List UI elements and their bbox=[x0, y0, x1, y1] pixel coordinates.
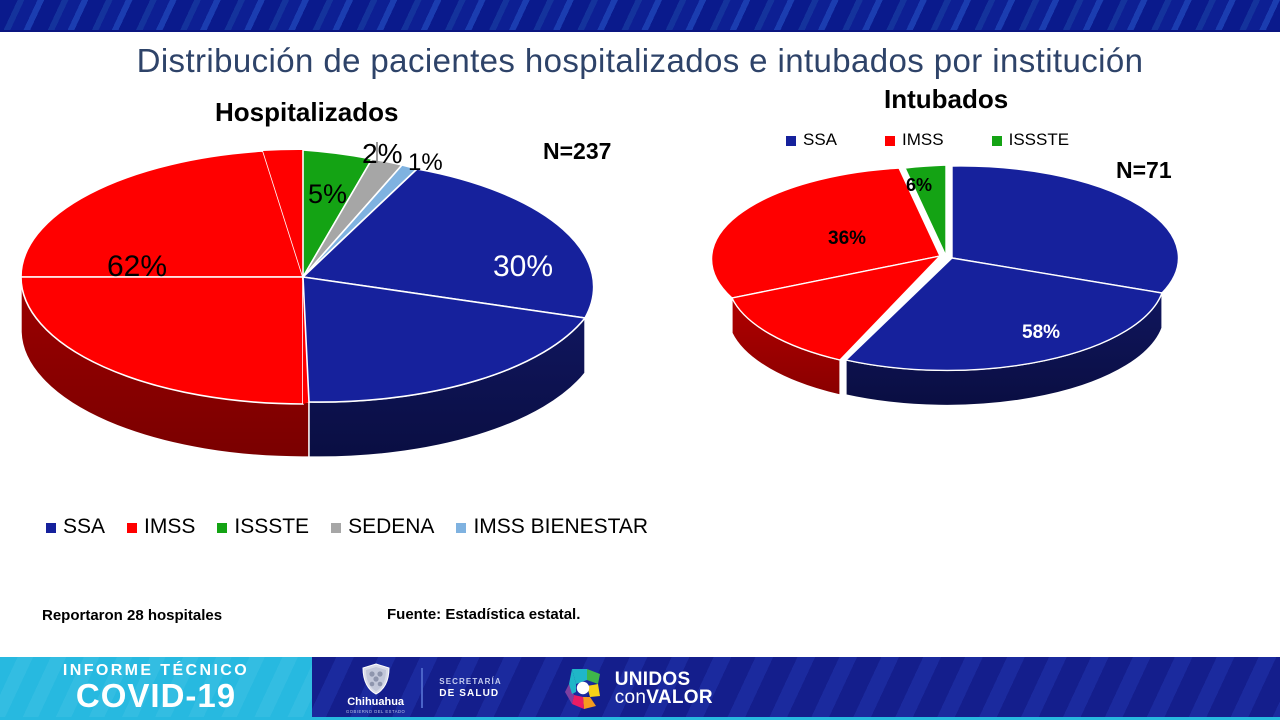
chihuahua-map-icon bbox=[560, 666, 606, 712]
footnote-source: Fuente: Estadística estatal. bbox=[387, 606, 580, 623]
legend-label-issste: ISSSTE bbox=[234, 515, 309, 539]
legend-label-ssa: SSA bbox=[63, 515, 105, 539]
legend-swatch-icon-sedena bbox=[331, 523, 341, 533]
logo-divider bbox=[421, 668, 423, 708]
legend-label-imss-bienestar: IMSS BIENESTAR bbox=[473, 515, 648, 539]
unidos-valor-text: VALOR bbox=[646, 687, 713, 708]
chart-heading-hospitalizados: Hospitalizados bbox=[215, 97, 398, 128]
gov-name-label: Chihuahua bbox=[347, 697, 404, 708]
pie-label-ssa-intubados: 58% bbox=[1022, 322, 1060, 344]
legend-swatch-icon-issste-intubados bbox=[992, 136, 1002, 146]
unidos-line2: conVALOR bbox=[615, 689, 713, 706]
legend-label-imss-intubados: IMSS bbox=[902, 130, 944, 150]
pie-label-issste-hospitalizados: 5% bbox=[308, 179, 347, 210]
pie-chart-intubados bbox=[722, 160, 1192, 420]
pie-label-imss-bienestar-hospitalizados: 1% bbox=[408, 149, 443, 177]
legend-item-ssa-intubados[interactable]: SSA bbox=[786, 130, 837, 150]
legend-item-imss[interactable]: IMSS bbox=[127, 515, 195, 539]
legend-item-issste[interactable]: ISSSTE bbox=[217, 515, 309, 539]
legend-item-ssa[interactable]: SSA bbox=[46, 515, 105, 539]
legend-swatch-icon-imss-intubados bbox=[885, 136, 895, 146]
secretaria-block: SECRETARÍA DE SALUD bbox=[439, 676, 501, 701]
legend-item-sedena[interactable]: SEDENA bbox=[331, 515, 434, 539]
unidos-con-text: con bbox=[615, 687, 647, 708]
pie-label-sedena-hospitalizados: 2% bbox=[362, 138, 402, 170]
chihuahua-shield-block: Chihuahua GOBIERNO DEL ESTADO bbox=[346, 663, 405, 714]
secretaria-line2: DE SALUD bbox=[439, 687, 501, 701]
legend-label-issste-intubados: ISSSTE bbox=[1009, 130, 1069, 150]
gov-sub-label: GOBIERNO DEL ESTADO bbox=[346, 710, 405, 714]
pie-label-imss-hospitalizados: 62% bbox=[107, 250, 167, 284]
unidos-text-block: UNIDOS conVALOR bbox=[615, 671, 713, 706]
legend-label-sedena: SEDENA bbox=[348, 515, 434, 539]
chart-heading-intubados: Intubados bbox=[884, 84, 1008, 115]
pie-label-issste-intubados: 6% bbox=[906, 175, 932, 196]
footnote-hospitals: Reportaron 28 hospitales bbox=[42, 607, 222, 624]
legend-swatch-icon-imss bbox=[127, 523, 137, 533]
legend-swatch-icon-ssa-intubados bbox=[786, 136, 796, 146]
page-title: Distribución de pacientes hospitalizados… bbox=[0, 42, 1280, 80]
banner-covid-block: INFORME TÉCNICO COVID-19 bbox=[0, 657, 312, 720]
pie-label-imss-intubados: 36% bbox=[828, 228, 866, 250]
legend-label-ssa-intubados: SSA bbox=[803, 130, 837, 150]
top-striped-bar bbox=[0, 0, 1280, 32]
pie-label-ssa-hospitalizados: 30% bbox=[493, 250, 553, 284]
legend-intubados: SSA IMSS ISSSTE bbox=[786, 130, 1117, 150]
secretaria-line1: SECRETARÍA bbox=[439, 676, 501, 687]
legend-item-issste-intubados[interactable]: ISSSTE bbox=[992, 130, 1069, 150]
legend-label-imss: IMSS bbox=[144, 515, 195, 539]
legend-swatch-icon-ssa bbox=[46, 523, 56, 533]
legend-swatch-icon-issste bbox=[217, 523, 227, 533]
legend-hospitalizados: SSA IMSS ISSSTE SEDENA IMSS BIENESTAR bbox=[46, 515, 670, 539]
legend-item-imss-bienestar[interactable]: IMSS BIENESTAR bbox=[456, 515, 648, 539]
government-logo: Chihuahua GOBIERNO DEL ESTADO SECRETARÍA… bbox=[346, 663, 502, 714]
banner-logos-block: Chihuahua GOBIERNO DEL ESTADO SECRETARÍA… bbox=[312, 657, 1280, 720]
slide-root: Distribución de pacientes hospitalizados… bbox=[0, 0, 1280, 720]
banner-covid-text: COVID-19 bbox=[76, 679, 236, 714]
legend-item-imss-intubados[interactable]: IMSS bbox=[885, 130, 944, 150]
legend-swatch-icon-imss-bienestar bbox=[456, 523, 466, 533]
unidos-con-valor-logo: UNIDOS conVALOR bbox=[560, 666, 713, 712]
bottom-banner: INFORME TÉCNICO COVID-19 Chihuahua bbox=[0, 657, 1280, 720]
shield-icon bbox=[361, 663, 391, 695]
